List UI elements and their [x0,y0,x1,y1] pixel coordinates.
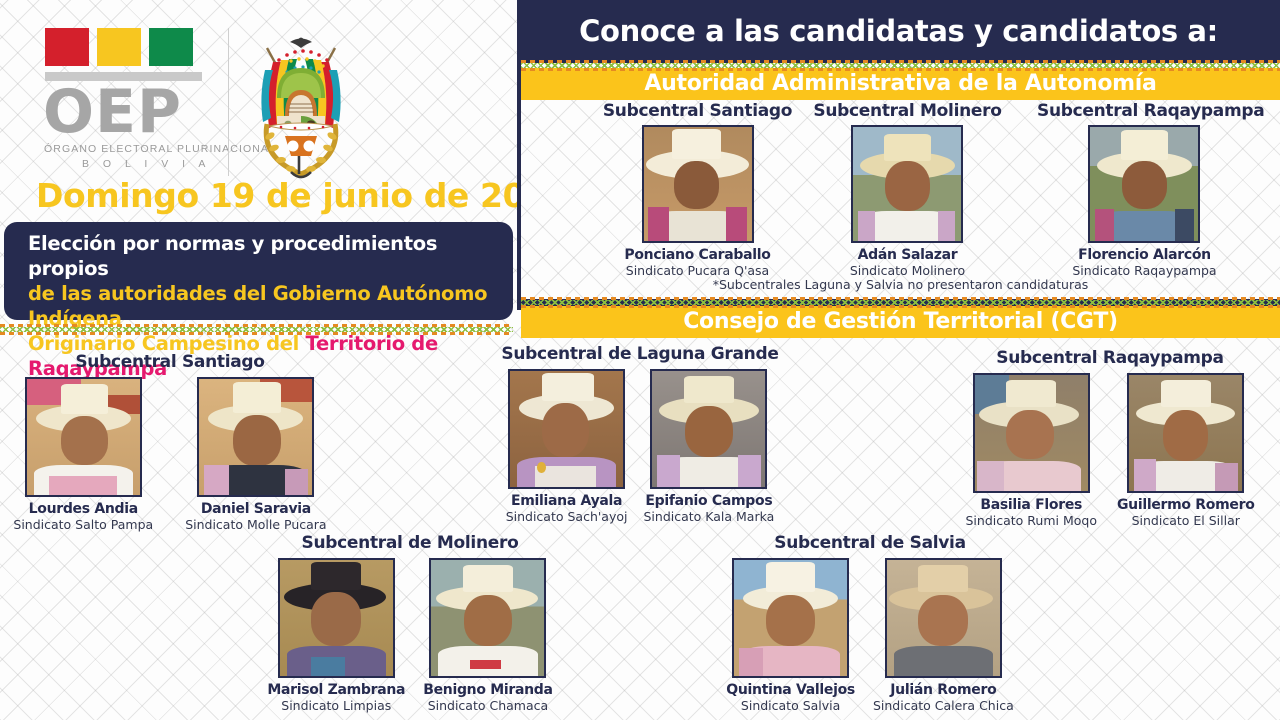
candidate-sindicato: Sindicato Kala Marka [643,509,774,524]
candidate-card[interactable]: Basilia Flores Sindicato Rumi Moqo [965,373,1096,528]
candidate-photo [650,369,767,489]
group-title: Subcentral Molinero [800,101,1015,121]
candidate-sindicato: Sindicato Molle Pucara [185,517,326,532]
decorative-band-cgt [521,297,1280,308]
candidate-card[interactable]: Quintina Vallejos Sindicato Salvia [726,558,855,713]
candidate-name: Florencio Alarcón [1072,247,1216,263]
candidate-sindicato: Sindicato Salto Pampa [13,517,153,532]
candidate-photo [25,377,142,497]
candidate-card[interactable]: Emiliana Ayala Sindicato Sach'ayoj [506,369,628,524]
candidate-photo [1127,373,1244,493]
left-panel: OEP ÓRGANO ELECTORAL PLURINACIONAL B O L… [0,0,517,336]
candidate-name: Ponciano Caraballo [624,247,770,263]
candidate-photo [278,558,395,678]
group-title: Subcentral Santiago [0,352,340,372]
candidate-card[interactable]: Ponciano Caraballo Sindicato Pucara Q'as… [624,125,770,278]
candidate-sindicato: Sindicato Pucara Q'asa [624,263,770,278]
group-cgt-laguna-grande: Subcentral de Laguna Grande Emiliana Aya… [480,344,800,524]
candidate-sindicato: Sindicato Molinero [850,263,965,278]
candidate-sindicato: Sindicato Raqaypampa [1072,263,1216,278]
right-header: Conoce a las candidatas y candidatos a: [517,0,1280,63]
flag-bar-yellow [97,28,141,66]
group-cgt-raqaypampa: Subcentral Raqaypampa Basilia Flores Sin… [940,348,1280,528]
autoridad-footnote: *Subcentrales Laguna y Salvia no present… [521,277,1280,292]
decorative-band-autoridad [521,60,1280,71]
election-date: Domingo 19 de junio de 2022 [36,176,570,215]
candidate-name: Lourdes Andia [13,501,153,517]
oep-subtitle-bolivia: B O L I V I A [82,158,220,170]
section-bar-autoridad: Autoridad Administrativa de la Autonomía [521,68,1280,100]
candidate-name: Basilia Flores [965,497,1096,513]
candidate-sindicato: Sindicato Sach'ayoj [506,509,628,524]
flag-bar-red [45,28,89,66]
group-aaa-santiago: Subcentral Santiago Ponciano Caraballo S… [590,101,805,278]
page-title: Conoce a las candidatas y candidatos a: [517,0,1280,63]
candidate-card[interactable]: Benigno Miranda Sindicato Chamaca [423,558,552,713]
candidate-sindicato: Sindicato Salvia [726,698,855,713]
candidate-name: Adán Salazar [850,247,965,263]
candidate-card[interactable]: Epifanio Campos Sindicato Kala Marka [643,369,774,524]
group-cgt-santiago: Subcentral Santiago Lourdes Andia Sindic… [0,352,340,532]
group-aaa-molinero: Subcentral Molinero Adán Salazar Sindica… [800,101,1015,278]
group-title: Subcentral Raqaypampa [1037,101,1252,121]
group-title: Subcentral Raqaypampa [940,348,1280,368]
candidate-photo [885,558,1002,678]
candidate-name: Daniel Saravia [185,501,326,517]
group-title: Subcentral Santiago [590,101,805,121]
candidate-photo [973,373,1090,493]
candidate-photo [851,125,963,243]
candidate-sindicato: Sindicato Limpias [267,698,405,713]
candidate-card[interactable]: Julián Romero Sindicato Calera Chica [873,558,1014,713]
candidate-sindicato: Sindicato Chamaca [423,698,552,713]
candidate-card[interactable]: Marisol Zambrana Sindicato Limpias [267,558,405,713]
candidate-name: Epifanio Campos [643,493,774,509]
flag-bars [45,28,195,66]
oep-subtitle-organo: ÓRGANO ELECTORAL PLURINACIONAL [44,143,220,155]
candidate-name: Marisol Zambrana [267,682,405,698]
candidate-photo [1088,125,1200,243]
candidate-name: Julián Romero [873,682,1014,698]
statement-line-1: Elección por normas y procedimientos pro… [28,231,513,281]
oep-acronym: OEP [43,83,220,141]
logo-row: OEP ÓRGANO ELECTORAL PLURINACIONAL B O L… [0,14,517,184]
oep-logo: OEP ÓRGANO ELECTORAL PLURINACIONAL B O L… [40,28,220,170]
candidate-photo [197,377,314,497]
candidate-photo [642,125,754,243]
candidate-name: Emiliana Ayala [506,493,628,509]
group-aaa-raqaypampa: Subcentral Raqaypampa Florencio Alarcón … [1037,101,1252,278]
group-title: Subcentral de Molinero [240,533,580,553]
candidate-card[interactable]: Adán Salazar Sindicato Molinero [850,125,965,278]
poster-canvas: OEP ÓRGANO ELECTORAL PLURINACIONAL B O L… [0,0,1280,720]
candidate-name: Guillermo Romero [1117,497,1255,513]
candidate-photo [429,558,546,678]
candidate-card[interactable]: Daniel Saravia Sindicato Molle Pucara [185,377,326,532]
group-title: Subcentral de Salvia [700,533,1040,553]
decorative-band-left [0,324,513,335]
flag-bar-green [149,28,193,66]
candidate-photo [508,369,625,489]
candidate-sindicato: Sindicato El Sillar [1117,513,1255,528]
candidate-name: Benigno Miranda [423,682,552,698]
candidate-card[interactable]: Florencio Alarcón Sindicato Raqaypampa [1072,125,1216,278]
group-title: Subcentral de Laguna Grande [480,344,800,364]
candidate-sindicato: Sindicato Rumi Moqo [965,513,1096,528]
candidate-photo [732,558,849,678]
candidate-sindicato: Sindicato Calera Chica [873,698,1014,713]
section-bar-cgt: Consejo de Gestión Territorial (CGT) [521,306,1280,338]
election-statement-box: Elección por normas y procedimientos pro… [4,222,513,320]
candidate-name: Quintina Vallejos [726,682,855,698]
candidate-card[interactable]: Lourdes Andia Sindicato Salto Pampa [13,377,153,532]
vertical-separator [228,28,229,176]
candidate-card[interactable]: Guillermo Romero Sindicato El Sillar [1117,373,1255,528]
group-cgt-molinero: Subcentral de Molinero Marisol Zambrana … [240,533,580,713]
bolivia-coat-of-arms-icon [243,24,359,184]
group-cgt-salvia: Subcentral de Salvia Quintina Vallejos S… [700,533,1040,713]
